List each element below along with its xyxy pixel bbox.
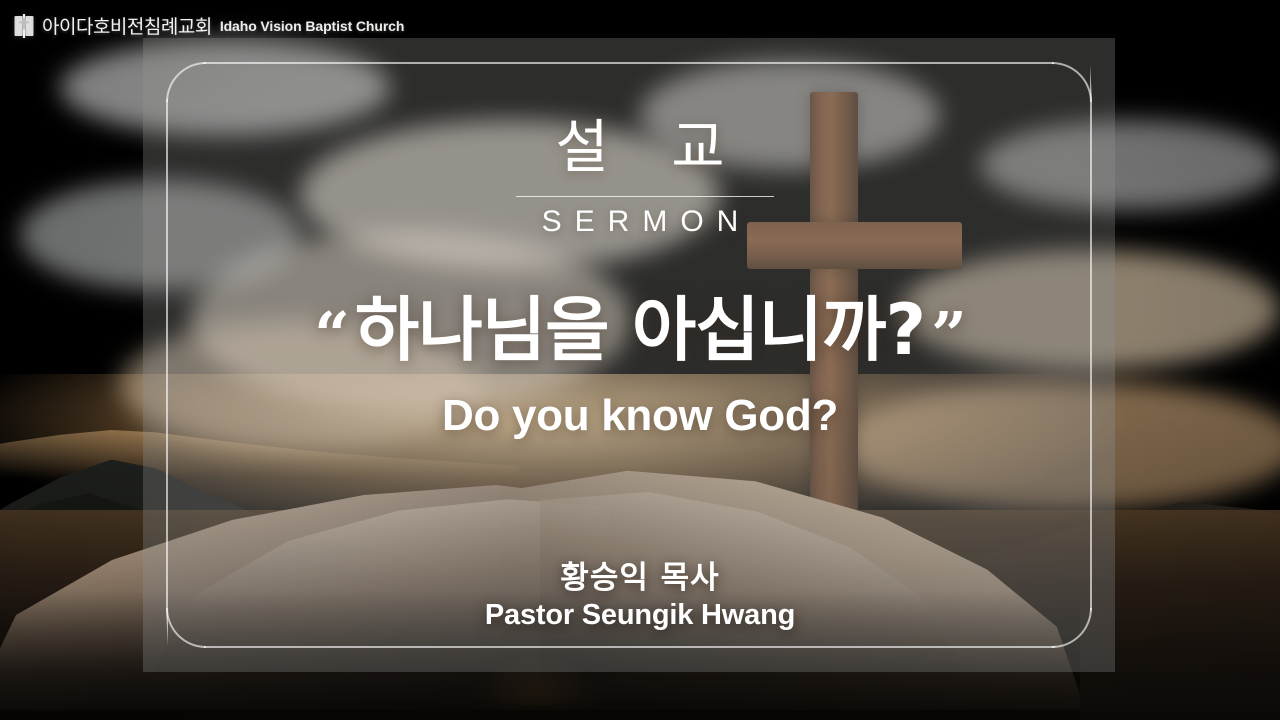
kicker-divider <box>516 196 774 197</box>
sermon-title-korean: “하나님을 아십니까?” <box>0 274 1280 375</box>
sermon-title-korean-text: 하나님을 아십니까? <box>355 289 925 371</box>
speaker-name-korean: 황승익 목사 <box>0 552 1280 597</box>
kicker-english: SERMON <box>0 205 1280 239</box>
slide-content: 설 교 SERMON “하나님을 아십니까?” Do you know God?… <box>0 0 1280 720</box>
kicker-korean: 설 교 <box>0 100 1280 184</box>
speaker-name-english: Pastor Seungik Hwang <box>0 599 1280 632</box>
sermon-slide: 아이다호비전침례교회 Idaho Vision Baptist Church 설… <box>0 0 1280 720</box>
brand-name-en: Idaho Vision Baptist Church <box>220 18 405 34</box>
quote-mark-close: ” <box>925 298 972 371</box>
quote-mark-open: “ <box>308 298 355 371</box>
brand-header: 아이다호비전침례교회 Idaho Vision Baptist Church <box>14 12 404 39</box>
brand-name-ko: 아이다호비전침례교회 <box>42 12 212 39</box>
sermon-title-english: Do you know God? <box>0 391 1280 441</box>
open-bible-cross-icon <box>14 14 34 38</box>
